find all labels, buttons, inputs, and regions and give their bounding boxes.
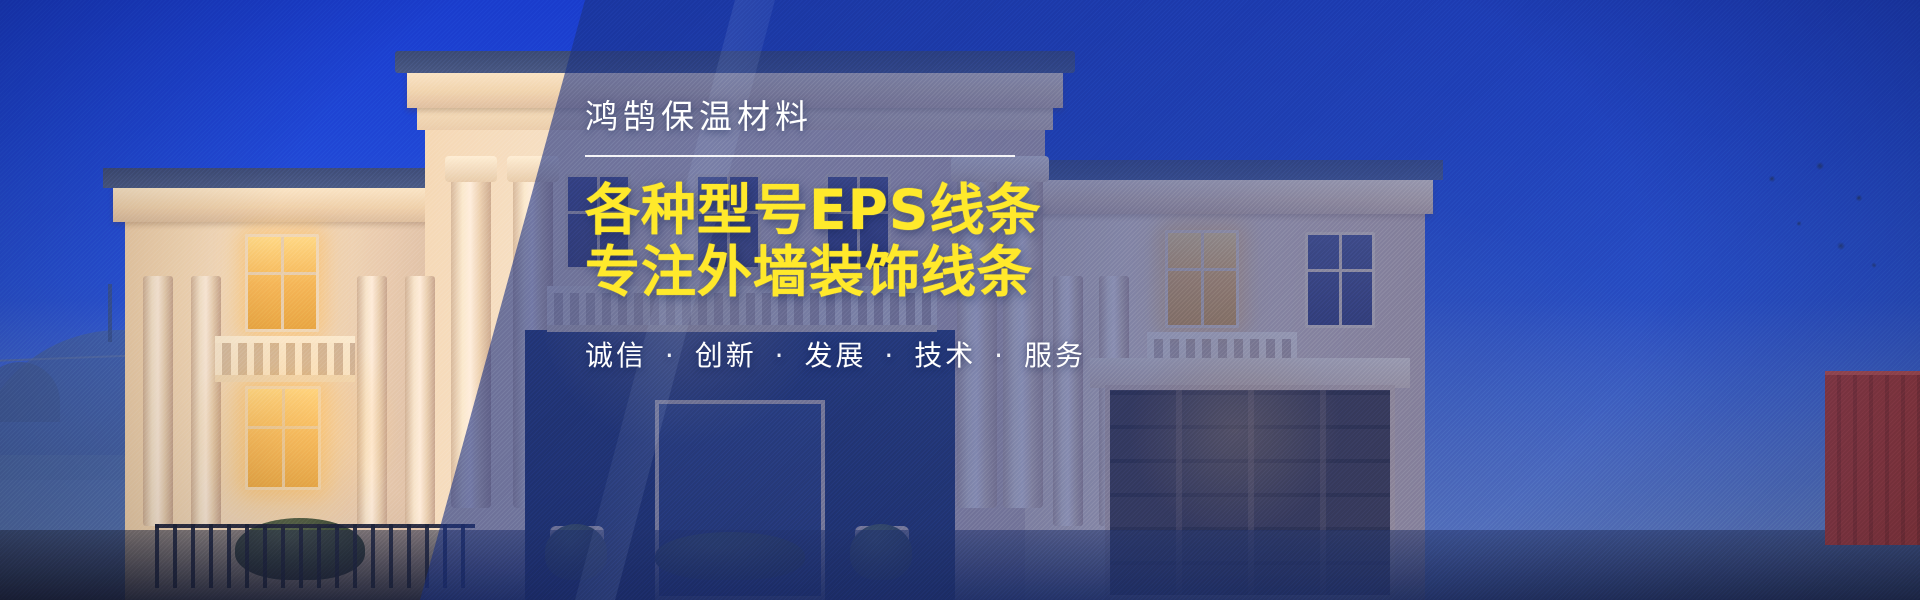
tagline-separator-icon: · xyxy=(769,339,793,372)
villa-column xyxy=(191,276,221,526)
villa-column xyxy=(357,276,387,526)
villa-column-capital xyxy=(445,156,497,182)
tagline-separator-icon: · xyxy=(659,339,683,372)
villa-column xyxy=(143,276,173,526)
window-mullion xyxy=(282,389,285,487)
tagline-item-3: 发展 xyxy=(804,339,866,372)
headline-line-2: 专注外墙装饰线条 xyxy=(585,241,1045,303)
tagline: 诚信 · 创新 · 发展 · 技术 · 服务 xyxy=(585,334,1045,374)
tagline-item-2: 创新 xyxy=(695,339,757,372)
window-transom xyxy=(248,426,318,429)
headline-line-1: 各种型号EPS线条 xyxy=(585,179,1045,241)
brand-name: 鸿鹄保温材料 xyxy=(585,96,1045,137)
villa-column xyxy=(405,276,435,526)
tagline-item-1: 诚信 xyxy=(585,339,647,372)
window-mullion xyxy=(281,237,284,329)
banner-copy-block: 鸿鹄保温材料 各种型号EPS线条 专注外墙装饰线条 诚信 · 创新 · 发展 ·… xyxy=(585,96,1045,374)
tagline-item-4: 技术 xyxy=(914,339,976,372)
villa-left-roof xyxy=(103,168,463,188)
divider-rule xyxy=(585,155,1015,157)
villa-left-cornice xyxy=(113,186,453,222)
villa-window-lit xyxy=(245,386,321,490)
window-transom xyxy=(248,272,316,275)
tagline-item-5: 服务 xyxy=(1024,339,1086,372)
promo-banner: 鸿鹄保温材料 各种型号EPS线条 专注外墙装饰线条 诚信 · 创新 · 发展 ·… xyxy=(0,0,1920,600)
tagline-separator-icon: · xyxy=(878,339,902,372)
tagline-separator-icon: · xyxy=(988,339,1012,372)
headline-block: 各种型号EPS线条 专注外墙装饰线条 xyxy=(585,179,1045,303)
villa-window-lit xyxy=(245,234,319,332)
villa-balustrade xyxy=(215,336,355,382)
